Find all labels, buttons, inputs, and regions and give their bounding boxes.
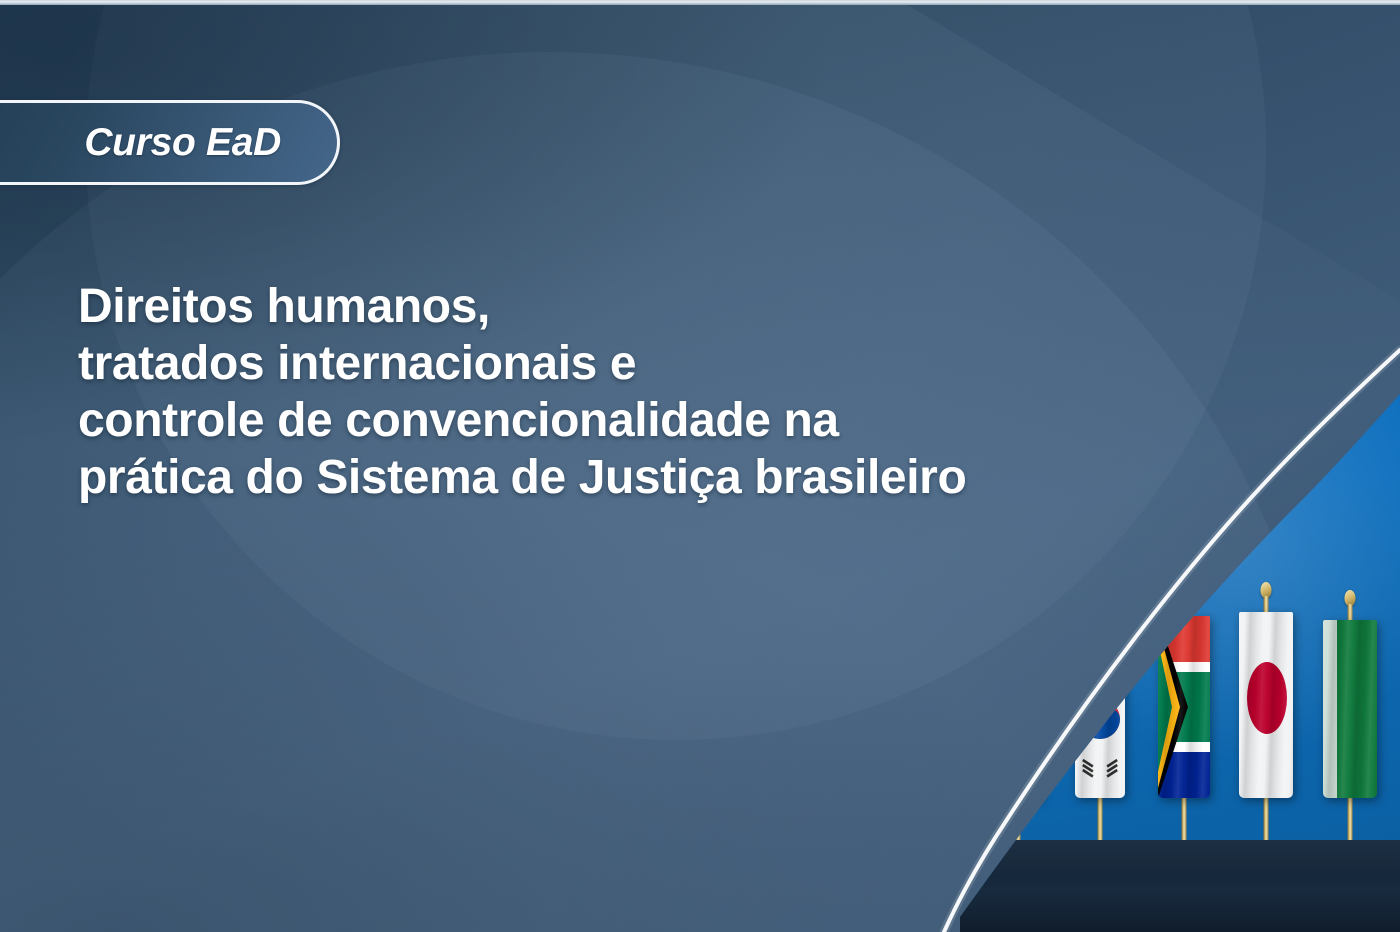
course-type-badge: Curso EaD <box>0 100 340 185</box>
flag-cloth-green <box>1323 620 1377 798</box>
page-title-line-3: controle de convencionalidade na <box>78 392 1198 449</box>
page-title-line-1: Direitos humanos, <box>78 278 1198 335</box>
course-type-badge-label: Curso EaD <box>84 123 281 162</box>
page-title: Direitos humanos, tratados internacionai… <box>78 278 1198 506</box>
top-edge-strip <box>0 0 1400 5</box>
flag-cloth-japan <box>1239 612 1293 798</box>
course-banner: Curso EaD Direitos humanos, tratados int… <box>0 0 1400 932</box>
page-title-line-4: prática do Sistema de Justiça brasileiro <box>78 449 1198 506</box>
table-reflection <box>960 840 1400 932</box>
page-title-line-2: tratados internacionais e <box>78 335 1198 392</box>
